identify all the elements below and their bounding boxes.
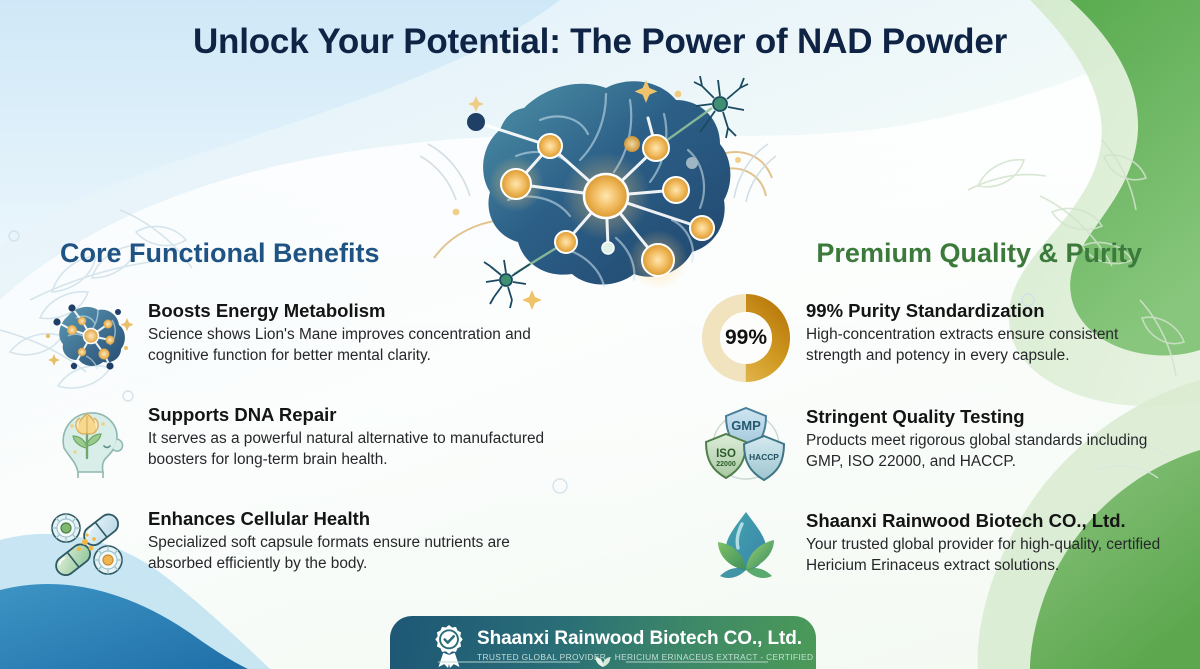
svg-text:22000: 22000 (716, 461, 736, 468)
head-flower-icon (42, 400, 134, 480)
feature-title: Boosts Energy Metabolism (148, 300, 562, 322)
feature-title: 99% Purity Standardization (806, 300, 1170, 322)
feature-title: Supports DNA Repair (148, 404, 562, 426)
feature-title: Shaanxi Rainwood Biotech CO., Ltd. (806, 510, 1170, 532)
footer-banner: Shaanxi Rainwood Biotech CO., Ltd. TRUST… (390, 616, 816, 669)
premium-quality-purity-list: 99% 99% Purity Standardization High-conc… (700, 296, 1170, 610)
feature-description: Specialized soft capsule formats ensure … (148, 533, 562, 574)
feature-description: High-concentration extracts ensure consi… (806, 325, 1170, 366)
list-item: GMP ISO 22000 HACCP Stringent (700, 402, 1170, 482)
page-title: Unlock Your Potential: The Power of NAD … (0, 22, 1200, 62)
feature-description: It serves as a powerful natural alternat… (148, 429, 562, 470)
core-functional-benefits-list: Boosts Energy Metabolism Science shows L… (42, 296, 562, 608)
svg-text:ISO: ISO (716, 448, 736, 460)
certification-shields-icon: GMP ISO 22000 HACCP (700, 402, 792, 482)
footer-company-name: Shaanxi Rainwood Biotech CO., Ltd. (477, 629, 816, 650)
feature-title: Stringent Quality Testing (806, 406, 1170, 428)
svg-text:GMP: GMP (731, 418, 761, 433)
list-item: 99% 99% Purity Standardization High-conc… (700, 296, 1170, 376)
capsules-icon (42, 504, 134, 584)
list-item: Supports DNA Repair It serves as a power… (42, 400, 562, 480)
footer-divider-leaf-icon (438, 655, 768, 667)
purity-donut-icon: 99% (700, 296, 792, 376)
list-item: Shaanxi Rainwood Biotech CO., Ltd. Your … (700, 506, 1170, 586)
brain-neural-network-illustration (420, 60, 780, 310)
brain-network-icon (42, 296, 134, 376)
left-column-heading: Core Functional Benefits (60, 238, 380, 269)
right-column-heading: Premium Quality & Purity (816, 238, 1142, 269)
infographic-canvas: Unlock Your Potential: The Power of NAD … (0, 0, 1200, 669)
feature-description: Your trusted global provider for high-qu… (806, 535, 1170, 576)
feature-description: Products meet rigorous global standards … (806, 431, 1170, 472)
feature-description: Science shows Lion's Mane improves conce… (148, 325, 562, 366)
list-item: Enhances Cellular Health Specialized sof… (42, 504, 562, 584)
list-item: Boosts Energy Metabolism Science shows L… (42, 296, 562, 376)
leaf-droplet-logo-icon (700, 506, 792, 586)
feature-title: Enhances Cellular Health (148, 508, 562, 530)
donut-value: 99% (700, 292, 792, 384)
svg-text:HACCP: HACCP (749, 452, 779, 462)
